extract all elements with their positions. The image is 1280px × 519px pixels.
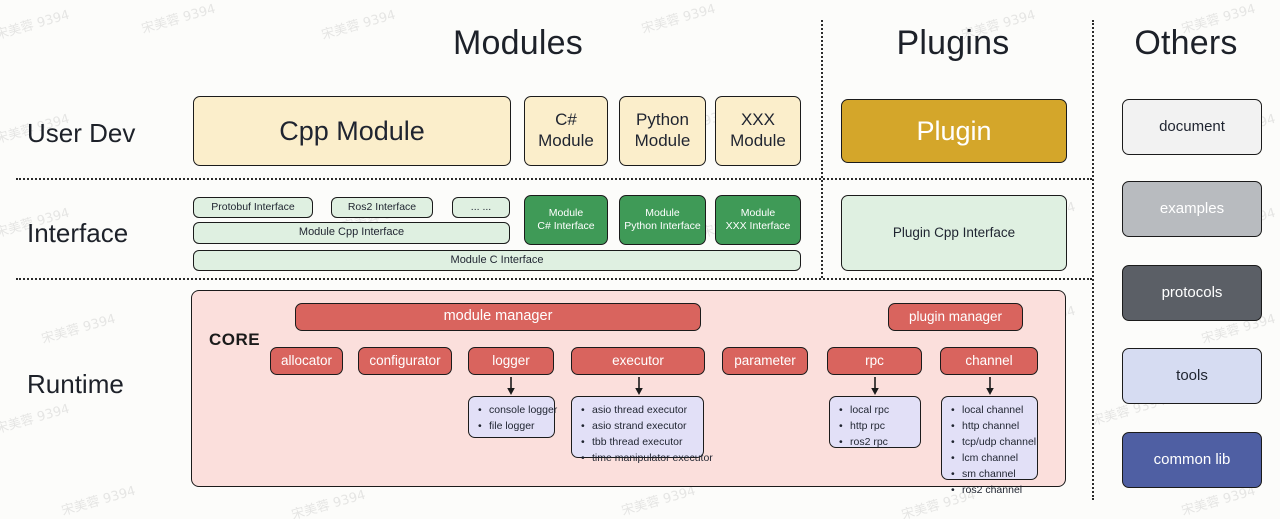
ros2-interface-box[interactable]: Ros2 Interface [331,197,433,218]
parameter-box[interactable]: parameter [722,347,808,375]
watermark: 宋美蓉 9394 [139,0,218,37]
allocator-box[interactable]: allocator [270,347,343,375]
rpc-box[interactable]: rpc [827,347,922,375]
channel-items: local channelhttp channeltcp/udp channel… [949,403,1029,499]
divider-interface-runtime [16,278,1092,280]
module-cpp-interface-box[interactable]: Module Cpp Interface [193,222,510,244]
divider-modules-plugins [821,20,823,278]
divider-plugins-others [1092,20,1094,500]
list-item: time manipulator executor [592,451,695,467]
watermark: 宋美蓉 9394 [0,398,71,437]
others-examples-box[interactable]: examples [1122,181,1262,237]
channel-box[interactable]: channel [940,347,1038,375]
column-heading-plugins: Plugins [853,24,1053,63]
list-item: tbb thread executor [592,435,695,451]
logger-detail-list: console loggerfile logger [468,396,555,438]
xxx-module-box[interactable]: XXX Module [715,96,801,166]
arrow-down-icon [504,377,518,395]
column-heading-modules: Modules [418,24,618,63]
list-item: ros2 channel [962,483,1029,499]
module-csharp-interface-box[interactable]: Module C# Interface [524,195,608,245]
watermark: 宋美蓉 9394 [319,4,398,43]
arrow-down-icon [632,377,646,395]
watermark: 宋美蓉 9394 [59,480,138,519]
cpp-module-box[interactable]: Cpp Module [193,96,511,166]
logger-box[interactable]: logger [468,347,554,375]
architecture-diagram: 宋美蓉 9394 宋美蓉 9394 宋美蓉 9394 宋美蓉 9394 宋美蓉 … [0,0,1280,519]
csharp-module-box[interactable]: C# Module [524,96,608,166]
list-item: local rpc [850,403,912,419]
list-item: asio thread executor [592,403,695,419]
list-item: tcp/udp channel [962,435,1029,451]
watermark: 宋美蓉 9394 [0,4,71,43]
list-item: local channel [962,403,1029,419]
row-label-interface: Interface [27,218,128,249]
module-manager-box[interactable]: module manager [295,303,701,331]
plugin-manager-box[interactable]: plugin manager [888,303,1023,331]
logger-items: console loggerfile logger [476,403,546,435]
plugin-cpp-interface-box[interactable]: Plugin Cpp Interface [841,195,1067,271]
list-item: asio strand executor [592,419,695,435]
list-item: ros2 rpc [850,435,912,451]
row-label-runtime: Runtime [27,369,124,400]
protobuf-interface-box[interactable]: Protobuf Interface [193,197,313,218]
ellipsis-interface-box[interactable]: ... ... [452,197,510,218]
rpc-detail-list: local rpchttp rpcros2 rpc [829,396,921,448]
watermark: 宋美蓉 9394 [289,484,368,519]
list-item: http channel [962,419,1029,435]
module-python-interface-box[interactable]: Module Python Interface [619,195,706,245]
arrow-down-icon [868,377,882,395]
executor-items: asio thread executorasio strand executor… [579,403,695,467]
plugin-box[interactable]: Plugin [841,99,1067,163]
others-tools-box[interactable]: tools [1122,348,1262,404]
list-item: lcm channel [962,451,1029,467]
divider-userdev-interface [16,178,1092,180]
module-c-interface-box[interactable]: Module C Interface [193,250,801,271]
module-xxx-interface-box[interactable]: Module XXX Interface [715,195,801,245]
executor-box[interactable]: executor [571,347,705,375]
configurator-box[interactable]: configurator [358,347,452,375]
list-item: file logger [489,419,546,435]
core-label: CORE [209,330,260,350]
row-label-user-dev: User Dev [27,118,135,149]
arrow-down-icon [983,377,997,395]
list-item: sm channel [962,467,1029,483]
others-protocols-box[interactable]: protocols [1122,265,1262,321]
executor-detail-list: asio thread executorasio strand executor… [571,396,704,458]
others-document-box[interactable]: document [1122,99,1262,155]
watermark: 宋美蓉 9394 [639,0,718,37]
list-item: http rpc [850,419,912,435]
python-module-box[interactable]: Python Module [619,96,706,166]
watermark: 宋美蓉 9394 [39,308,118,347]
channel-detail-list: local channelhttp channeltcp/udp channel… [941,396,1038,480]
others-common-lib-box[interactable]: common lib [1122,432,1262,488]
rpc-items: local rpchttp rpcros2 rpc [837,403,912,451]
column-heading-others: Others [1086,24,1280,63]
list-item: console logger [489,403,546,419]
